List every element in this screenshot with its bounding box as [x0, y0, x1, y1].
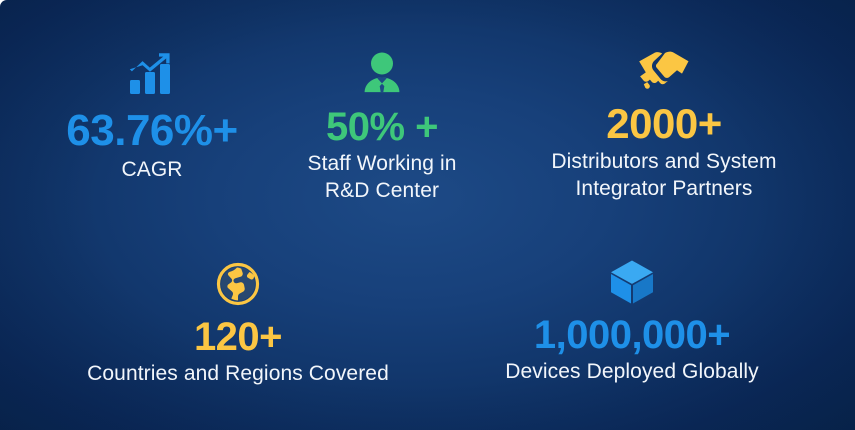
stat-value-cagr: 63.76%+	[22, 108, 282, 154]
person-user-icon	[272, 48, 492, 100]
stat-card-rd-staff: 50% + Staff Working in R&D Center	[272, 48, 492, 205]
stat-value-countries: 120+	[48, 316, 428, 358]
globe-icon	[48, 258, 428, 310]
stat-value-rd-staff: 50% +	[272, 106, 492, 148]
handshake-icon	[494, 44, 834, 96]
stat-label-line-2: R&D Center	[272, 178, 492, 205]
stat-label-line-1: Staff Working in	[272, 151, 492, 178]
cube-box-icon	[452, 256, 812, 308]
stat-label-cagr: CAGR	[22, 157, 282, 184]
stat-label-rd-staff: Staff Working in R&D Center	[272, 151, 492, 205]
stat-card-devices: 1,000,000+ Devices Deployed Globally	[452, 256, 812, 386]
stats-grid: 63.76%+ CAGR 50% + Staff Working in R&D …	[0, 0, 855, 430]
stats-banner: 63.76%+ CAGR 50% + Staff Working in R&D …	[0, 0, 855, 430]
stat-value-devices: 1,000,000+	[452, 314, 812, 356]
stat-card-partners: 2000+ Distributors and System Integrator…	[494, 44, 834, 203]
stat-label-line-2: Integrator Partners	[494, 176, 834, 203]
stat-label-devices: Devices Deployed Globally	[452, 359, 812, 386]
bar-chart-growth-icon	[22, 48, 282, 100]
stat-label-line-1: Distributors and System	[494, 149, 834, 176]
stat-card-cagr: 63.76%+ CAGR	[22, 48, 282, 184]
stat-value-partners: 2000+	[494, 102, 834, 146]
stat-label-countries: Countries and Regions Covered	[48, 361, 428, 388]
stat-label-partners: Distributors and System Integrator Partn…	[494, 149, 834, 203]
stat-card-countries: 120+ Countries and Regions Covered	[48, 258, 428, 388]
